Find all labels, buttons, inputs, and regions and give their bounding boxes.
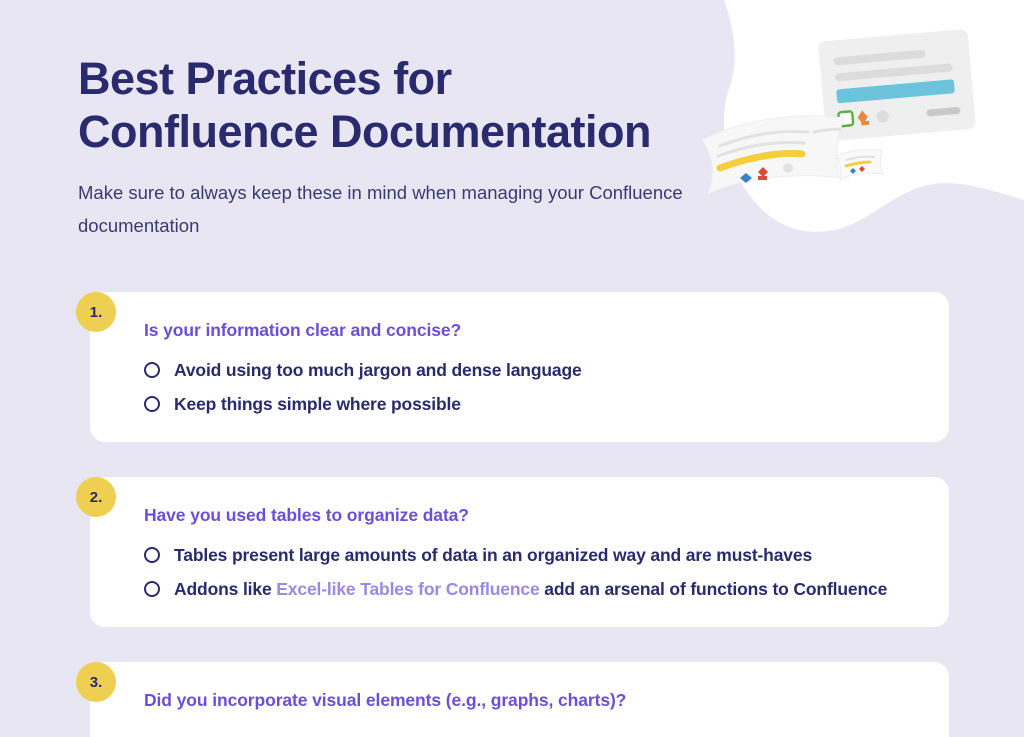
option-text-before: Avoid using too much jargon and dense la…	[174, 360, 582, 380]
option-text-before: Addons like	[174, 579, 276, 599]
radio-circle-icon[interactable]	[144, 581, 160, 597]
radio-circle-icon[interactable]	[144, 362, 160, 378]
checklist: 1.Is your information clear and concise?…	[0, 292, 1024, 737]
option-text-before: Tables present large amounts of data in …	[174, 545, 812, 565]
page-subtitle: Make sure to always keep these in mind w…	[78, 176, 698, 242]
option-inline-link[interactable]: Excel-like Tables for Confluence	[276, 579, 539, 599]
page-title-line1: Best Practices for	[78, 53, 452, 104]
option-text-after: add an arsenal of functions to Confluenc…	[540, 579, 888, 599]
illustration-main-card	[818, 29, 976, 142]
checklist-options: Tables present large amounts of data in …	[144, 543, 915, 601]
blob-shape	[724, 0, 1024, 232]
checklist-option-text: Tables present large amounts of data in …	[174, 543, 915, 567]
checklist-card: Have you used tables to organize data?Ta…	[90, 477, 949, 627]
checklist-option-text: Avoid using too much jargon and dense la…	[174, 358, 915, 382]
radio-circle-icon[interactable]	[144, 547, 160, 563]
item-number-badge: 3.	[76, 662, 116, 702]
checklist-option[interactable]: Avoid using too much jargon and dense la…	[144, 358, 915, 382]
checklist-option-text: Keep things simple where possible	[174, 392, 915, 416]
page-title: Best Practices for Confluence Documentat…	[78, 52, 718, 158]
checklist-option-text: Addons like Excel-like Tables for Conflu…	[174, 577, 915, 601]
checklist-question: Is your information clear and concise?	[144, 320, 915, 341]
option-text-before: Keep things simple where possible	[174, 394, 461, 414]
radio-circle-icon[interactable]	[144, 396, 160, 412]
checklist-option[interactable]: Keep things simple where possible	[144, 392, 915, 416]
checklist-item: 3.Did you incorporate visual elements (e…	[0, 662, 1024, 737]
page-header: Best Practices for Confluence Documentat…	[78, 52, 718, 242]
item-number-badge: 2.	[76, 477, 116, 517]
checklist-card: Is your information clear and concise?Av…	[90, 292, 949, 442]
illustration-paper-large	[702, 116, 844, 194]
item-number-badge: 1.	[76, 292, 116, 332]
checklist-item: 2.Have you used tables to organize data?…	[0, 477, 1024, 627]
checklist-option[interactable]: Addons like Excel-like Tables for Conflu…	[144, 577, 915, 601]
documents-illustration	[684, 0, 1024, 240]
checklist-card: Did you incorporate visual elements (e.g…	[90, 662, 949, 737]
checklist-item: 1.Is your information clear and concise?…	[0, 292, 1024, 442]
checklist-question: Did you incorporate visual elements (e.g…	[144, 690, 915, 711]
checklist-option[interactable]: Tables present large amounts of data in …	[144, 543, 915, 567]
illustration-paper-small	[836, 149, 883, 180]
page-title-line2: Confluence Documentation	[78, 106, 651, 157]
checklist-question: Have you used tables to organize data?	[144, 505, 915, 526]
checklist-options: Avoid using too much jargon and dense la…	[144, 358, 915, 416]
